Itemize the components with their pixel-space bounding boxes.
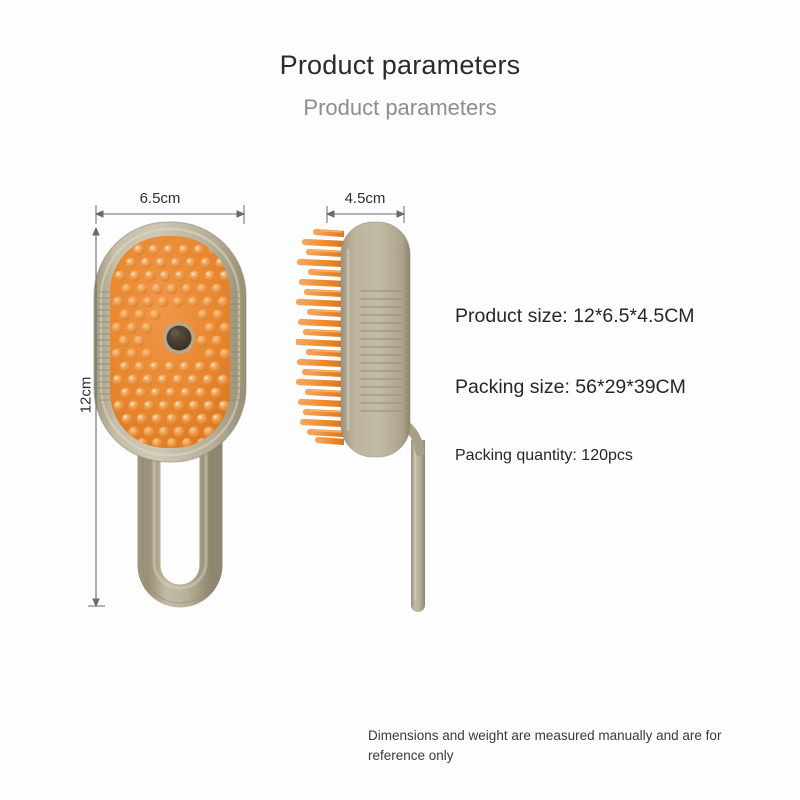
dimension-label-side-width: 4.5cm bbox=[345, 190, 386, 207]
front-view-handle bbox=[143, 430, 217, 603]
spec-product-size: Product size: 12*6.5*4.5CM bbox=[455, 305, 785, 328]
center-nozzle-hole bbox=[163, 322, 195, 354]
silicone-pad bbox=[110, 236, 230, 448]
dimension-lines bbox=[88, 205, 404, 606]
side-view-handle bbox=[398, 420, 425, 612]
page-subtitle: Product parameters bbox=[0, 95, 800, 121]
side-body-ribs bbox=[361, 291, 403, 411]
front-view-brush bbox=[94, 222, 246, 603]
comb-teeth-left bbox=[95, 292, 114, 400]
side-view-bristles bbox=[298, 231, 344, 443]
pad-nubs bbox=[112, 245, 231, 448]
dimension-front-width bbox=[96, 205, 244, 224]
dimension-label-front-height: 12cm bbox=[78, 377, 95, 414]
dimension-label-front-width: 6.5cm bbox=[140, 190, 181, 207]
front-view-body bbox=[94, 222, 246, 462]
spec-packing-quantity: Packing quantity: 120pcs bbox=[455, 447, 785, 465]
dimension-side-width bbox=[327, 206, 404, 223]
side-view-body bbox=[341, 222, 410, 457]
spec-packing-size: Packing size: 56*29*39CM bbox=[455, 376, 785, 399]
comb-teeth-right bbox=[226, 292, 245, 400]
side-view-brush bbox=[298, 222, 425, 612]
disclaimer-text: Dimensions and weight are measured manua… bbox=[368, 726, 776, 765]
page-title: Product parameters bbox=[0, 50, 800, 81]
dimension-front-height bbox=[88, 228, 105, 606]
specification-list: Product size: 12*6.5*4.5CM Packing size:… bbox=[455, 305, 785, 465]
product-parameters-page: Product parameters Product parameters bbox=[0, 0, 800, 800]
